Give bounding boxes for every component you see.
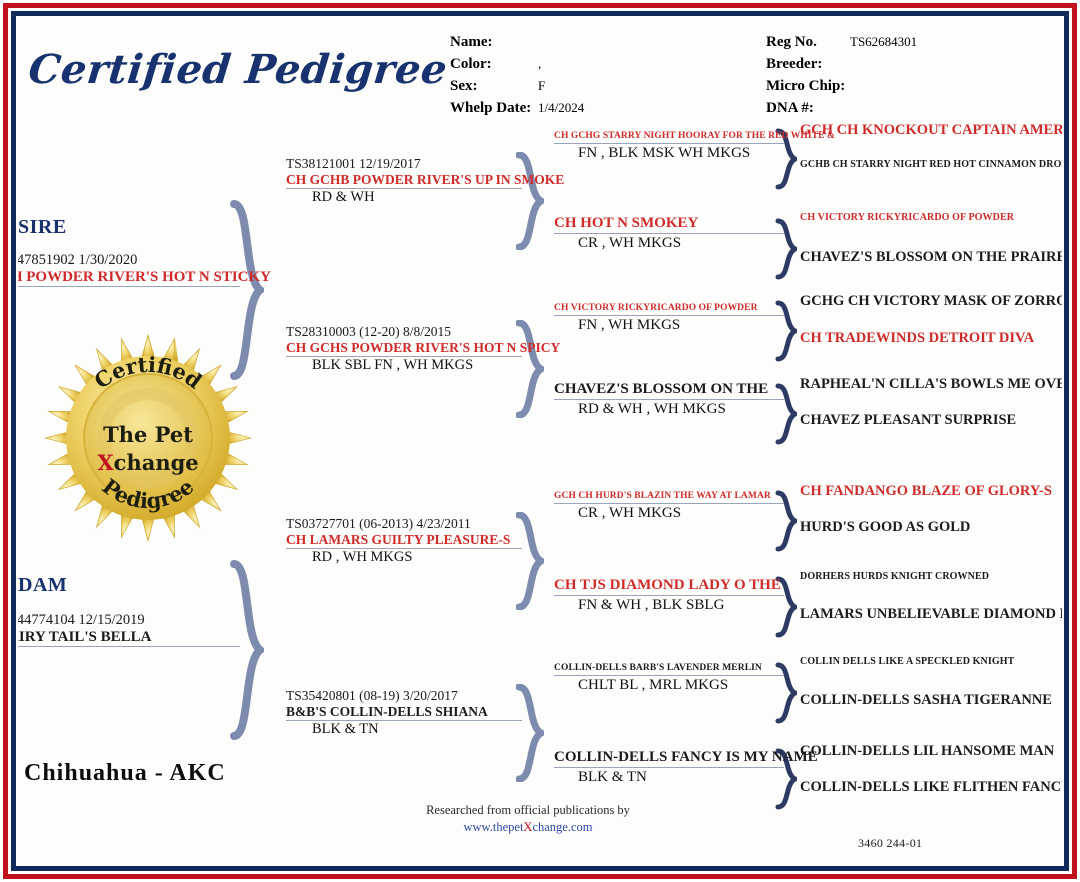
gen2-entry-3-reg: TS03727701 (06-2013) 4/23/2011 <box>286 516 522 532</box>
gen4-entry-9[interactable]: CH FANDANGO BLAZE OF GLORY-S <box>800 483 1062 500</box>
pedigree-certificate: Certified Pedigree Name: Color:, Sex:F W… <box>0 0 1080 882</box>
gen2-entry-2-color: BLK SBL FN , WH MKGS <box>286 357 522 374</box>
label-sire: SIRE <box>18 216 67 239</box>
gen2-entry-1[interactable]: TS38121001 12/19/2017 CH GCHB POWDER RIV… <box>286 156 522 206</box>
seal-line-3: Xchange <box>97 450 198 475</box>
gen4-entry-16-name: COLLIN-DELLS LIKE FLITHEN FANCY <box>800 779 1062 796</box>
gen3-entry-6[interactable]: CH TJS DIAMOND LADY O THE FN & WH , BLK … <box>554 577 784 614</box>
field-color: Color:, <box>450 56 760 73</box>
gen4-entry-1[interactable]: GCH CH KNOCKOUT CAPTAIN AMERICA <box>800 122 1062 139</box>
gen4-entry-10-name: HURD'S GOOD AS GOLD <box>800 519 1062 536</box>
certification-seal: Certified The Pet Xchange Pedigree <box>42 330 254 546</box>
gen3-entry-2-name: CH HOT N SMOKEY <box>554 215 784 234</box>
footer: Researched from official publications by… <box>318 803 738 835</box>
field-micro-chip-label: Micro Chip: <box>766 78 850 95</box>
gen3-entry-7[interactable]: COLLIN-DELLS BARB'S LAVENDER MERLIN CHLT… <box>554 663 784 694</box>
gen3-entry-2-color: CR , WH MKGS <box>554 234 784 252</box>
gen4-entry-8-name: CHAVEZ PLEASANT SURPRISE <box>800 412 1062 429</box>
footer-website-pre: www.thepet <box>463 820 523 834</box>
gen4-entry-15-name: COLLIN-DELLS LIL HANSOME MAN <box>800 743 1062 760</box>
gen2-entry-4-name: B&B'S COLLIN-DELLS SHIANA <box>286 704 522 721</box>
header-left-fields: Name: Color:, Sex:F Whelp Date:1/4/2024 <box>450 34 760 122</box>
gen1-dam[interactable]: TS44774104 12/15/2019 FAIRY TAIL'S BELLA <box>18 612 240 647</box>
gen4-entry-2-name: GCHB CH STARRY NIGHT RED HOT CINNAMON DR… <box>800 159 1062 171</box>
gen4-entry-8[interactable]: CHAVEZ PLEASANT SURPRISE <box>800 412 1062 429</box>
gen1-sire-name: CH POWDER RIVER'S HOT N STICKY <box>18 269 240 288</box>
field-color-label: Color: <box>450 56 538 73</box>
gen3-entry-5-name: GCH CH HURD'S BLAZIN THE WAY AT LAMAR <box>554 491 784 504</box>
gen3-entry-6-color: FN & WH , BLK SBLG <box>554 596 784 614</box>
gen3-entry-2[interactable]: CH HOT N SMOKEY CR , WH MKGS <box>554 215 784 252</box>
gen3-entry-5-color: CR , WH MKGS <box>554 504 784 522</box>
gen4-entry-4-name: CHAVEZ'S BLOSSOM ON THE PRAIRE <box>800 249 1062 266</box>
gen4-entry-6[interactable]: CH TRADEWINDS DETROIT DIVA <box>800 330 1062 347</box>
gen3-entry-3-color: FN , WH MKGS <box>554 316 784 334</box>
gen3-entry-3[interactable]: CH VICTORY RICKYRICARDO OF POWDER FN , W… <box>554 303 784 334</box>
seal-graphic: Certified The Pet Xchange Pedigree <box>42 330 254 546</box>
gen4-entry-7-name: RAPHEAL'N CILLA'S BOWLS ME OVER <box>800 376 1062 393</box>
gen4-entry-14-name: COLLIN-DELLS SASHA TIGERANNE <box>800 692 1062 709</box>
gen4-entry-4[interactable]: CHAVEZ'S BLOSSOM ON THE PRAIRE <box>800 249 1062 266</box>
footer-website-post: change.com <box>532 820 592 834</box>
header-right-fields: Reg No.TS62684301 Breeder: Micro Chip: D… <box>766 34 1062 122</box>
gen4-entry-12-name: LAMARS UNBELIEVABLE DIAMOND RIO <box>800 606 1062 623</box>
gen2-entry-2-name: CH GCHS POWDER RIVER'S HOT N SPICY <box>286 340 522 357</box>
field-reg-no-value: TS62684301 <box>850 34 917 49</box>
gen4-entry-1-name: GCH CH KNOCKOUT CAPTAIN AMERICA <box>800 122 1062 139</box>
gen2-entry-1-reg: TS38121001 12/19/2017 <box>286 156 522 172</box>
field-breeder-label: Breeder: <box>766 56 850 73</box>
field-whelp-date-value: 1/4/2024 <box>538 100 584 115</box>
field-breeder: Breeder: <box>766 56 1062 73</box>
gen4-entry-13[interactable]: COLLIN DELLS LIKE A SPECKLED KNIGHT <box>800 656 1062 668</box>
gen4-entry-3[interactable]: CH VICTORY RICKYRICARDO OF POWDER <box>800 212 1062 224</box>
field-sex-label: Sex: <box>450 78 538 95</box>
gen3-entry-5[interactable]: GCH CH HURD'S BLAZIN THE WAY AT LAMAR CR… <box>554 491 784 522</box>
gen2-entry-4-reg: TS35420801 (08-19) 3/20/2017 <box>286 688 522 704</box>
field-micro-chip: Micro Chip: <box>766 78 1062 95</box>
gen4-entry-5-name: GCHG CH VICTORY MASK OF ZORRO <box>800 293 1062 310</box>
gen4-entry-13-name: COLLIN DELLS LIKE A SPECKLED KNIGHT <box>800 656 1062 668</box>
gen2-entry-2-reg: TS28310003 (12-20) 8/8/2015 <box>286 324 522 340</box>
gen3-entry-7-color: CHLT BL , MRL MKGS <box>554 676 784 694</box>
field-color-value: , <box>538 56 541 71</box>
gen4-entry-10[interactable]: HURD'S GOOD AS GOLD <box>800 519 1062 536</box>
field-reg-no-label: Reg No. <box>766 34 850 51</box>
field-name-label: Name: <box>450 34 538 51</box>
gen2-entry-1-color: RD & WH <box>286 189 522 206</box>
page-title: Certified Pedigree <box>26 46 451 93</box>
label-dam: DAM <box>18 574 67 597</box>
gen1-dam-reg: TS44774104 12/15/2019 <box>18 612 240 629</box>
field-reg-no: Reg No.TS62684301 <box>766 34 1062 51</box>
gen4-entry-16[interactable]: COLLIN-DELLS LIKE FLITHEN FANCY <box>800 779 1062 796</box>
field-name: Name: <box>450 34 760 51</box>
gen3-entry-4-color: RD & WH , WH MKGS <box>554 400 784 418</box>
gen4-entry-15[interactable]: COLLIN-DELLS LIL HANSOME MAN <box>800 743 1062 760</box>
gen2-entry-3-color: RD , WH MKGS <box>286 549 522 566</box>
gen4-entry-14[interactable]: COLLIN-DELLS SASHA TIGERANNE <box>800 692 1062 709</box>
gen3-entry-3-name: CH VICTORY RICKYRICARDO OF POWDER <box>554 303 784 316</box>
gen1-dam-name: FAIRY TAIL'S BELLA <box>18 629 240 648</box>
field-dna-label: DNA #: <box>766 100 850 117</box>
gen4-entry-11-name: DORHERS HURDS KNIGHT CROWNED <box>800 571 1062 583</box>
field-sex-value: F <box>538 78 545 93</box>
certificate-sheet: Certified Pedigree Name: Color:, Sex:F W… <box>18 18 1062 864</box>
gen4-entry-2[interactable]: GCHB CH STARRY NIGHT RED HOT CINNAMON DR… <box>800 159 1062 171</box>
gen4-entry-11[interactable]: DORHERS HURDS KNIGHT CROWNED <box>800 571 1062 583</box>
gen2-entry-4-color: BLK & TN <box>286 721 522 738</box>
gen3-entry-8[interactable]: COLLIN-DELLS FANCY IS MY NAME BLK & TN <box>554 749 784 786</box>
brace-dam-gen1 <box>230 560 264 740</box>
gen3-entry-6-name: CH TJS DIAMOND LADY O THE <box>554 577 784 596</box>
gen4-entry-12[interactable]: LAMARS UNBELIEVABLE DIAMOND RIO <box>800 606 1062 623</box>
gen2-entry-1-name: CH GCHB POWDER RIVER'S UP IN SMOKE <box>286 172 522 189</box>
gen1-sire[interactable]: TS47851902 1/30/2020 CH POWDER RIVER'S H… <box>18 252 240 287</box>
gen2-entry-3[interactable]: TS03727701 (06-2013) 4/23/2011 CH LAMARS… <box>286 516 522 566</box>
field-sex: Sex:F <box>450 78 760 95</box>
gen3-entry-4[interactable]: CHAVEZ'S BLOSSOM ON THE RD & WH , WH MKG… <box>554 381 784 418</box>
seal-line-2: The Pet <box>103 422 193 447</box>
gen4-entry-3-name: CH VICTORY RICKYRICARDO OF POWDER <box>800 212 1062 224</box>
gen3-entry-8-name: COLLIN-DELLS FANCY IS MY NAME <box>554 749 784 768</box>
gen2-entry-2[interactable]: TS28310003 (12-20) 8/8/2015 CH GCHS POWD… <box>286 324 522 374</box>
document-id: 3460 244-01 <box>858 836 922 851</box>
gen2-entry-3-name: CH LAMARS GUILTY PLEASURE-S <box>286 532 522 549</box>
gen3-entry-7-name: COLLIN-DELLS BARB'S LAVENDER MERLIN <box>554 663 784 676</box>
footer-researched: Researched from official publications by <box>318 803 738 818</box>
gen1-sire-reg: TS47851902 1/30/2020 <box>18 252 240 269</box>
gen3-entry-8-color: BLK & TN <box>554 768 784 786</box>
breed-registry: Chihuahua - AKC <box>24 760 226 787</box>
gen2-entry-4[interactable]: TS35420801 (08-19) 3/20/2017 B&B'S COLLI… <box>286 688 522 738</box>
footer-website[interactable]: www.thepetXchange.com <box>318 820 738 835</box>
field-dna: DNA #: <box>766 100 1062 117</box>
gen4-entry-7[interactable]: RAPHEAL'N CILLA'S BOWLS ME OVER <box>800 376 1062 393</box>
gen3-entry-1-name: CH GCHG STARRY NIGHT HOORAY FOR THE RED … <box>554 131 784 144</box>
gen3-entry-4-name: CHAVEZ'S BLOSSOM ON THE <box>554 381 784 400</box>
gen4-entry-5[interactable]: GCHG CH VICTORY MASK OF ZORRO <box>800 293 1062 310</box>
gen3-entry-1[interactable]: CH GCHG STARRY NIGHT HOORAY FOR THE RED … <box>554 131 784 162</box>
field-whelp-date: Whelp Date:1/4/2024 <box>450 100 760 117</box>
field-whelp-date-label: Whelp Date: <box>450 100 538 117</box>
gen3-entry-1-color: FN , BLK MSK WH MKGS <box>554 144 784 162</box>
gen4-entry-6-name: CH TRADEWINDS DETROIT DIVA <box>800 330 1062 347</box>
gen4-entry-9-name: CH FANDANGO BLAZE OF GLORY-S <box>800 483 1062 500</box>
